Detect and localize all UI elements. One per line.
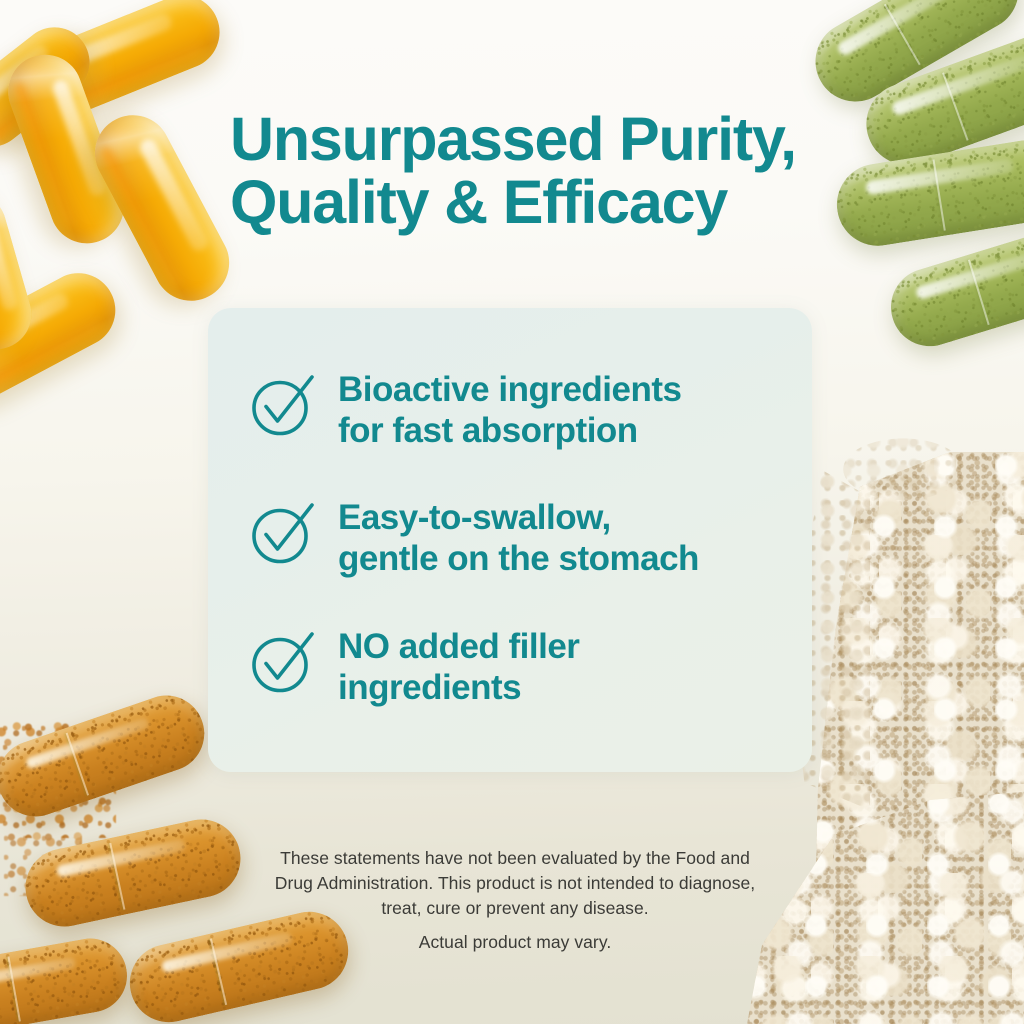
- headline-line-1: Unsurpassed Purity,: [230, 108, 830, 171]
- fda-disclaimer: These statements have not been evaluated…: [222, 846, 808, 921]
- page-title: Unsurpassed Purity, Quality & Efficacy: [230, 108, 830, 234]
- benefit-label: Easy-to-swallow, gentle on the stomach: [338, 496, 699, 579]
- disclaimer-line-1: These statements have not been evaluated…: [222, 846, 808, 871]
- benefit-line-2: for fast absorption: [338, 411, 681, 452]
- check-circle-icon: [250, 500, 316, 566]
- turmeric-capsule: [122, 904, 356, 1024]
- product-variance-note: Actual product may vary.: [222, 932, 808, 953]
- benefit-line-2: gentle on the stomach: [338, 539, 699, 580]
- benefit-item: Bioactive ingredients for fast absorptio…: [250, 368, 681, 451]
- benefit-line-1: Bioactive ingredients: [338, 370, 681, 411]
- disclaimer-line-2: Drug Administration. This product is not…: [222, 871, 808, 896]
- benefit-item: NO added filler ingredients: [250, 625, 579, 708]
- promo-image-canvas: Unsurpassed Purity, Quality & Efficacy B…: [0, 0, 1024, 1024]
- benefit-line-1: Easy-to-swallow,: [338, 498, 699, 539]
- turmeric-capsule: [0, 933, 133, 1024]
- benefits-card: Bioactive ingredients for fast absorptio…: [208, 308, 812, 772]
- disclaimer-line-3: treat, cure or prevent any disease.: [222, 896, 808, 921]
- benefit-line-1: NO added filler: [338, 627, 579, 668]
- headline-line-2: Quality & Efficacy: [230, 171, 830, 234]
- benefit-item: Easy-to-swallow, gentle on the stomach: [250, 496, 699, 579]
- benefit-line-2: ingredients: [338, 668, 579, 709]
- benefit-label: NO added filler ingredients: [338, 625, 579, 708]
- check-circle-icon: [250, 629, 316, 695]
- benefit-label: Bioactive ingredients for fast absorptio…: [338, 368, 681, 451]
- check-circle-icon: [250, 372, 316, 438]
